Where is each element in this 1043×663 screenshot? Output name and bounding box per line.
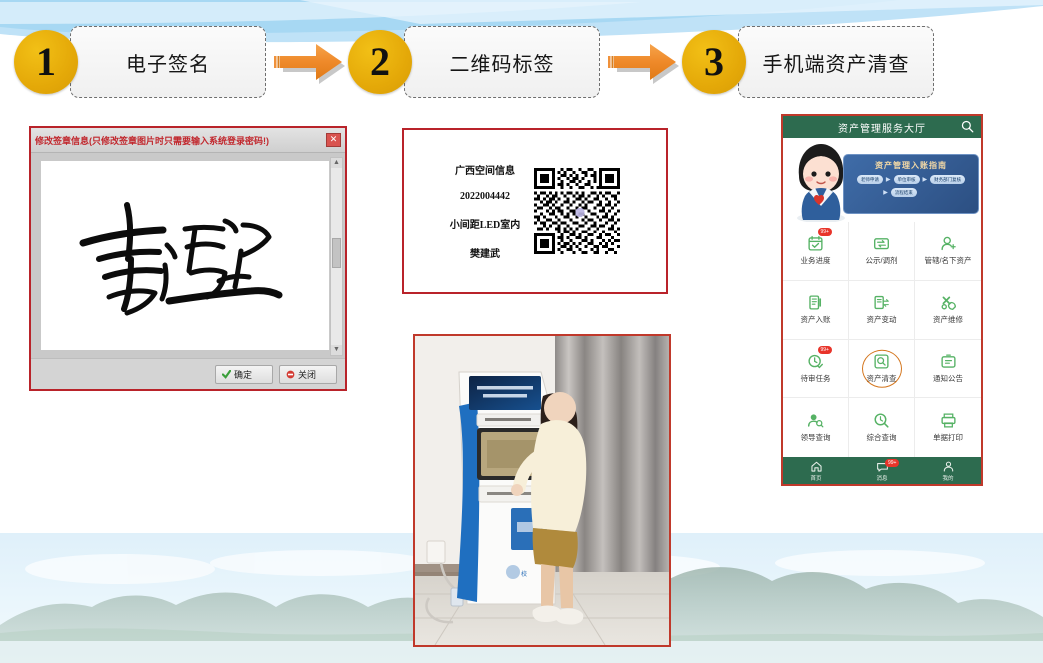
grid-item-asset-repair[interactable]: 资产维修 [915, 281, 981, 340]
grid-item-label: 通知公告 [933, 373, 963, 384]
signature-scrollbar[interactable]: ▲ ▼ [330, 157, 343, 356]
scroll-up-icon[interactable]: ▲ [331, 158, 342, 168]
grid-item-label: 资产变动 [867, 314, 897, 325]
scroll-down-icon[interactable]: ▼ [331, 345, 342, 355]
announcement-icon [940, 353, 957, 370]
calendar-check-icon [807, 235, 824, 252]
home-icon [810, 460, 823, 473]
grid-item-label: 待审任务 [801, 373, 831, 384]
chevron-right-icon: ▶ [886, 176, 891, 183]
banner-guide-card[interactable]: 资产管理入账指南 老师申请 ▶ 单位审核 ▶ 财务部门复核 ▶ 流程结束 [843, 154, 979, 214]
signature-image [41, 161, 329, 350]
banner-chip-4: 流程结束 [891, 188, 917, 197]
qr-label-line-3: 小间距LED室内 [450, 216, 521, 231]
check-icon [222, 370, 231, 379]
grid-item-label: 综合查询 [867, 432, 897, 443]
nav-item-label: 我的 [942, 474, 953, 482]
qr-label-line-2: 2022004442 [460, 191, 510, 202]
user-search-icon [807, 412, 824, 429]
step-2: 2 二维码标签 [348, 26, 600, 98]
grid-item-label: 资产入账 [801, 314, 831, 325]
asset-qr-label-card: 广西空间信息 2022004442 小间距LED室内 樊建武 [402, 128, 668, 294]
handwritten-signature-icon [65, 181, 305, 331]
nav-item-label: 消息 [876, 474, 887, 482]
badge-count: 99+ [818, 228, 832, 236]
kiosk-photo: 校 [413, 334, 671, 647]
qr-label-line-1: 广西空间信息 [455, 162, 515, 177]
close-button-label: 关闭 [298, 368, 316, 381]
grid-item-asset-inventory[interactable]: 资产清查 [849, 340, 915, 399]
grid-item-label: 领导查询 [801, 432, 831, 443]
chevron-right-icon: ▶ [923, 176, 928, 183]
grid-item-label: 资产维修 [933, 314, 963, 325]
signature-dialog-body: ▲ ▼ [31, 153, 345, 358]
grid-item-label: 业务进度 [801, 255, 831, 266]
grid-item-announcements[interactable]: 通知公告 [915, 340, 981, 399]
banner-flow-row-1: 老师申请 ▶ 单位审核 ▶ 财务部门复核 [844, 175, 978, 184]
badge-count: 99+ [818, 346, 832, 354]
app-header: 资产管理服务大厅 [783, 116, 981, 138]
chevron-right-icon: ▶ [883, 189, 888, 196]
step-1: 1 电子签名 [14, 26, 266, 98]
grid-item-public-notice-transfer[interactable]: 公示/调剂 [849, 222, 915, 281]
step-1-number: 1 [14, 30, 78, 94]
banner-chip-3: 财务部门复核 [930, 175, 965, 184]
stop-icon [286, 370, 295, 379]
banner-chip-1: 老师申请 [857, 175, 883, 184]
grid-item-pending-tasks[interactable]: 99+ 待审任务 [783, 340, 849, 399]
step-2-label[interactable]: 二维码标签 [404, 26, 600, 98]
grid-item-label: 公示/调剂 [865, 255, 897, 266]
magnifier-icon [873, 412, 890, 429]
signature-dialog-titlebar: 修改签章信息(只修改签章图片时只需要输入系统登录密码!) ✕ [31, 128, 345, 153]
banner-title: 资产管理入账指南 [844, 160, 978, 171]
kiosk-photo-illustration: 校 [415, 336, 669, 645]
user-add-icon [940, 235, 957, 252]
app-function-grid: 99+ 业务进度 公示/调剂 管辖/名下资产 资产入账 资产变动 资产维修 99… [783, 222, 981, 457]
step-2-number: 2 [348, 30, 412, 94]
nav-item-messages[interactable]: 99+ 消息 [849, 457, 915, 484]
grid-item-comprehensive-query[interactable]: 综合查询 [849, 398, 915, 457]
nav-item-profile[interactable]: 我的 [915, 457, 981, 484]
tools-icon [940, 294, 957, 311]
qr-label-line-4: 樊建武 [470, 245, 500, 260]
document-in-icon [807, 294, 824, 311]
qr-code-icon [534, 168, 620, 254]
grid-item-asset-entry[interactable]: 资产入账 [783, 281, 849, 340]
badge-count: 99+ [885, 459, 899, 467]
grid-item-business-progress[interactable]: 99+ 业务进度 [783, 222, 849, 281]
scrollbar-thumb[interactable] [332, 238, 341, 268]
grid-item-document-print[interactable]: 单据打印 [915, 398, 981, 457]
app-banner[interactable]: 资产管理入账指南 老师申请 ▶ 单位审核 ▶ 财务部门复核 ▶ 流程结束 [783, 138, 981, 222]
close-button[interactable]: 关闭 [279, 365, 337, 384]
svg-text:校: 校 [521, 570, 527, 578]
search-icon[interactable] [961, 120, 974, 138]
grid-item-label: 单据打印 [933, 432, 963, 443]
qr-label-text-column: 广西空间信息 2022004442 小间距LED室内 樊建武 [450, 162, 521, 260]
grid-item-managed-assets[interactable]: 管辖/名下资产 [915, 222, 981, 281]
grid-item-label: 管辖/名下资产 [924, 255, 971, 266]
banner-chip-2: 单位审核 [894, 175, 920, 184]
close-icon[interactable]: ✕ [326, 133, 341, 147]
document-move-icon [873, 294, 890, 311]
confirm-button[interactable]: 确定 [215, 365, 273, 384]
step-3-number: 3 [682, 30, 746, 94]
grid-item-leader-query[interactable]: 领导查询 [783, 398, 849, 457]
grid-item-asset-change[interactable]: 资产变动 [849, 281, 915, 340]
step-arrow-2-to-3 [606, 36, 680, 88]
confirm-button-label: 确定 [234, 368, 252, 381]
printer-icon [940, 412, 957, 429]
app-title: 资产管理服务大厅 [838, 120, 926, 135]
banner-flow-row-2: ▶ 流程结束 [822, 188, 978, 197]
signature-dialog: 修改签章信息(只修改签章图片时只需要输入系统登录密码!) ✕ [29, 126, 347, 391]
clock-check-icon [807, 353, 824, 370]
app-bottom-nav: 首页 99+ 消息 我的 [783, 457, 981, 484]
exchange-box-icon [873, 235, 890, 252]
step-arrow-1-to-2 [272, 36, 346, 88]
step-1-label[interactable]: 电子签名 [70, 26, 266, 98]
step-3: 3 手机端资产清查 [682, 26, 934, 98]
highlight-ring [862, 350, 902, 388]
signature-dialog-footer: 确定 关闭 [31, 358, 345, 389]
mobile-app-screen: 资产管理服务大厅 资产管理入账指南 老师申请 ▶ 单位审核 ▶ [781, 114, 983, 486]
process-step-header: 1 电子签名 2 二维码标签 [0, 14, 1043, 110]
signature-dialog-title: 修改签章信息(只修改签章图片时只需要输入系统登录密码!) [35, 134, 326, 147]
person-icon [942, 460, 955, 473]
nav-item-home[interactable]: 首页 [783, 457, 849, 484]
step-3-label[interactable]: 手机端资产清查 [738, 26, 934, 98]
nav-item-label: 首页 [810, 474, 821, 482]
